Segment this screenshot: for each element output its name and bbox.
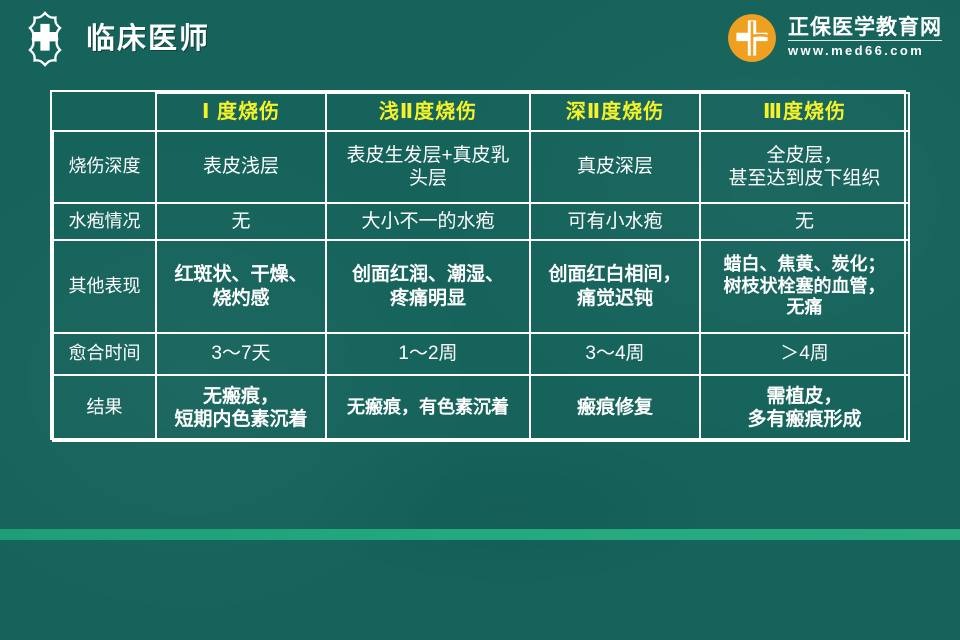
cell-other-signs-d1: 红斑状、干燥、 烧灼感 [156,240,326,333]
cell-line: ＞4周 [780,343,829,364]
cell-line: 瘢痕修复 [577,397,653,418]
brand-right-text: 正保医学教育网 www.med66.com [788,16,942,60]
table-row: 其他表现 红斑状、干燥、 烧灼感 创面红润、潮湿、 疼痛明显 创面红白相间， 痛… [53,240,909,333]
cell-burn-depth-d2d: 真皮深层 [530,131,700,203]
cell-line: 短期内色素沉着 [174,409,307,430]
orange-circle-cross-icon [726,12,778,64]
table-row: 结果 无瘢痕， 短期内色素沉着 无瘢痕，有色素沉着 瘢痕修复 需植皮， 多有瘢痕… [53,375,909,441]
table-row: 愈合时间 3～7天 1～2周 3～4周 ＞4周 [53,333,909,375]
table-row: 水疱情况 无 大小不一的水疱 可有小水疱 无 [53,203,909,240]
brand-right-title: 正保医学教育网 [788,16,942,39]
cell-line: 无 [231,211,250,232]
cell-healing-time-d1: 3～7天 [156,333,326,375]
cell-healing-time-d2d: 3～4周 [530,333,700,375]
cell-line: 表皮浅层 [203,156,279,177]
cell-line: 需植皮， [766,386,842,407]
cell-healing-time-d3: ＞4周 [700,333,909,375]
column-header-degree-2-shallow: 浅Ⅱ度烧伤 [326,93,530,131]
header-bar: 临床医师 正保医学教育网 www.med66.com [0,0,960,80]
column-header-degree-2-deep: 深Ⅱ度烧伤 [530,93,700,131]
brand-right[interactable]: 正保医学教育网 www.med66.com [726,12,942,64]
cell-outcome-d2s: 无瘢痕，有色素沉着 [326,375,530,441]
cell-line: 甚至达到皮下组织 [728,168,880,189]
cell-outcome-d3: 需植皮， 多有瘢痕形成 [700,375,909,441]
row-label-other-signs: 其他表现 [53,240,156,333]
row-label-blister: 水疱情况 [53,203,156,240]
cell-burn-depth-d2s: 表皮生发层+真皮乳 头层 [326,131,530,203]
cell-line: 无瘢痕， [203,386,279,407]
background-shadow-bottom [300,430,720,590]
brand-left-title: 临床医师 [86,25,210,54]
cell-line: 真皮深层 [577,156,653,177]
cell-burn-depth-d1: 表皮浅层 [156,131,326,203]
cell-blister-d3: 无 [700,203,909,240]
cell-outcome-d2d: 瘢痕修复 [530,375,700,441]
burn-degree-table: Ⅰ 度烧伤 浅Ⅱ度烧伤 深Ⅱ度烧伤 Ⅲ度烧伤 烧伤深度 表皮浅层 表皮生发层+真… [50,90,906,440]
cell-line: 3～7天 [211,343,270,364]
cell-line: 全皮层， [766,145,842,166]
cell-line: 蜡白、焦黄、炭化； [724,254,886,274]
brand-right-divider [788,40,942,41]
cell-blister-d1: 无 [156,203,326,240]
comparison-table: Ⅰ 度烧伤 浅Ⅱ度烧伤 深Ⅱ度烧伤 Ⅲ度烧伤 烧伤深度 表皮浅层 表皮生发层+真… [52,92,910,442]
cell-line: 1～2周 [398,343,457,364]
cell-line: 创面红润、潮湿、 [352,264,504,285]
cell-line: 无 [795,211,814,232]
cell-line: 无痛 [787,297,823,317]
cell-line: 大小不一的水疱 [361,211,494,232]
cell-line: 树枝状栓塞的血管， [724,276,886,296]
cell-outcome-d1: 无瘢痕， 短期内色素沉着 [156,375,326,441]
row-label-healing-time: 愈合时间 [53,333,156,375]
cell-line: 疼痛明显 [390,288,466,309]
table-corner-cell [53,93,156,131]
cell-line: 红斑状、干燥、 [174,264,307,285]
column-header-degree-3: Ⅲ度烧伤 [700,93,909,131]
cell-other-signs-d2d: 创面红白相间， 痛觉迟钝 [530,240,700,333]
table-row: 烧伤深度 表皮浅层 表皮生发层+真皮乳 头层 真皮深层 全皮层， 甚至达到皮下组… [53,131,909,203]
row-label-outcome: 结果 [53,375,156,441]
footer-accent-strip [0,529,960,540]
cell-line: 3～4周 [585,343,644,364]
row-label-burn-depth: 烧伤深度 [53,131,156,203]
cell-line: 表皮生发层+真皮乳 [346,145,509,166]
cell-healing-time-d2s: 1～2周 [326,333,530,375]
cell-line: 烧灼感 [212,288,269,309]
cell-other-signs-d3: 蜡白、焦黄、炭化； 树枝状栓塞的血管， 无痛 [700,240,909,333]
brand-right-url: www.med66.com [788,43,942,60]
cell-line: 可有小水疱 [567,211,662,232]
cell-burn-depth-d3: 全皮层， 甚至达到皮下组织 [700,131,909,203]
cell-blister-d2s: 大小不一的水疱 [326,203,530,240]
cell-other-signs-d2s: 创面红润、潮湿、 疼痛明显 [326,240,530,333]
column-header-degree-1: Ⅰ 度烧伤 [156,93,326,131]
cell-line: 创面红白相间， [548,264,681,285]
table-header-row: Ⅰ 度烧伤 浅Ⅱ度烧伤 深Ⅱ度烧伤 Ⅲ度烧伤 [53,93,909,131]
cell-line: 多有瘢痕形成 [747,409,861,430]
cell-line: 无瘢痕，有色素沉着 [347,397,509,417]
medical-cross-diamond-icon [16,10,74,68]
cell-blister-d2d: 可有小水疱 [530,203,700,240]
cell-line: 头层 [409,168,447,189]
cell-line: 痛觉迟钝 [577,288,653,309]
brand-left: 临床医师 [16,10,210,68]
